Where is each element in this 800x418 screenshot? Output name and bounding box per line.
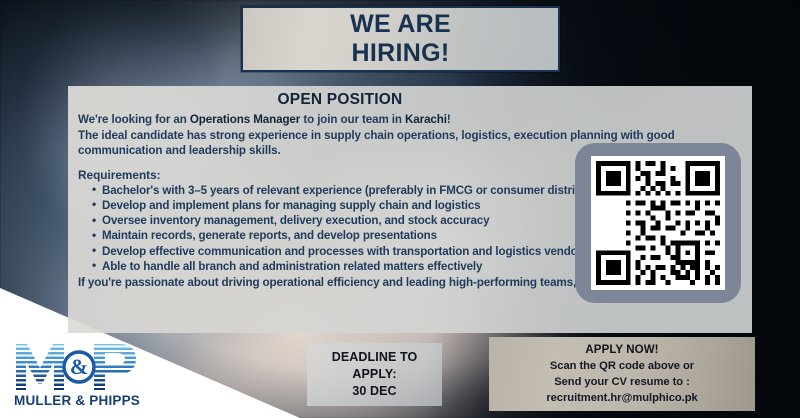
hiring-line-1: WE ARE <box>350 10 451 39</box>
logo-wordmark: MULLER & PHIPPS <box>14 393 144 408</box>
city-name: Karachi <box>405 113 447 126</box>
intro-line-2: The ideal candidate has strong experienc… <box>78 128 742 144</box>
intro-text-c: ! <box>447 113 451 126</box>
apply-now-box: APPLY NOW! Scan the QR code above or Sen… <box>489 337 755 411</box>
apply-now-title: APPLY NOW! <box>585 342 658 358</box>
deadline-date: 30 DEC <box>352 383 396 400</box>
deadline-line-1: DEADLINE TO <box>332 349 418 366</box>
logo-monogram-icon: & <box>14 342 136 392</box>
open-position-heading: OPEN POSITION <box>78 91 742 109</box>
we-are-hiring-banner: WE ARE HIRING! <box>241 6 560 72</box>
job-poster: & MULLER & PHIPPS WE ARE HIRING! OPEN PO… <box>0 0 800 418</box>
qr-code-container[interactable] <box>575 143 741 303</box>
svg-text:&: & <box>70 354 88 379</box>
apply-instruction-1: Scan the QR code above or <box>550 358 694 374</box>
qr-code-icon[interactable] <box>591 156 725 290</box>
apply-instruction-2: Send your CV resume to : <box>554 374 690 390</box>
contact-email[interactable]: recruitment.hr@mulphico.pk <box>546 390 697 406</box>
intro-text-a: We're looking for an <box>78 113 190 126</box>
deadline-box: DEADLINE TO APPLY: 30 DEC <box>307 343 442 406</box>
main-content-panel: OPEN POSITION We're looking for an Opera… <box>68 86 752 333</box>
intro-line-1: We're looking for an Operations Manager … <box>78 112 742 128</box>
company-logo: & MULLER & PHIPPS <box>14 342 144 408</box>
role-title: Operations Manager <box>190 113 300 126</box>
deadline-line-2: APPLY: <box>352 366 396 383</box>
intro-text-b: to join our team in <box>300 113 405 126</box>
hiring-line-2: HIRING! <box>352 39 450 68</box>
